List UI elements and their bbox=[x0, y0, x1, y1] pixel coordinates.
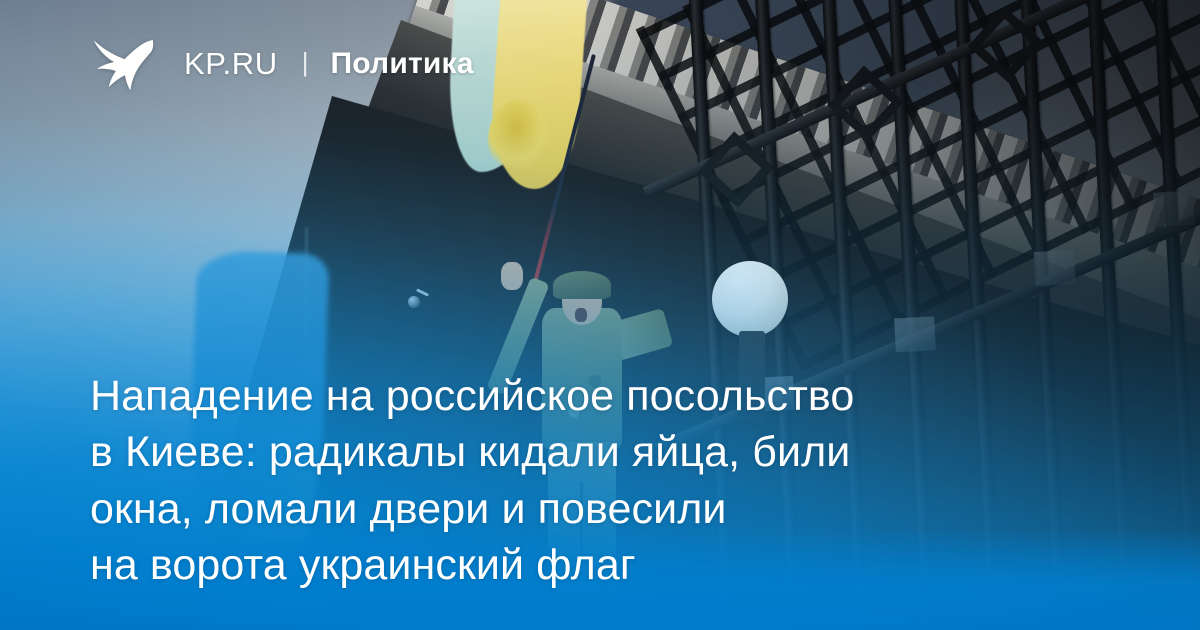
headline-line: окна, ломали двери и повесили bbox=[90, 481, 1100, 538]
headline-line: в Киеве: радикалы кидали яйца, били bbox=[90, 424, 1100, 481]
site-name[interactable]: KP.RU bbox=[184, 46, 278, 82]
headline-line: Нападение на российское посольство bbox=[90, 368, 1100, 425]
headline-line: на ворота украинский флаг bbox=[90, 537, 1100, 594]
article-headline: Нападение на российское посольство в Кие… bbox=[90, 368, 1100, 594]
rubric-label[interactable]: Политика bbox=[331, 47, 474, 81]
swallow-bird-icon bbox=[90, 32, 156, 96]
brand-separator: | bbox=[302, 47, 309, 78]
kp-ru-article-social-card: KP.RU | Политика Нападение на российское… bbox=[0, 0, 1200, 630]
brand-bar: KP.RU | Политика bbox=[90, 32, 474, 96]
